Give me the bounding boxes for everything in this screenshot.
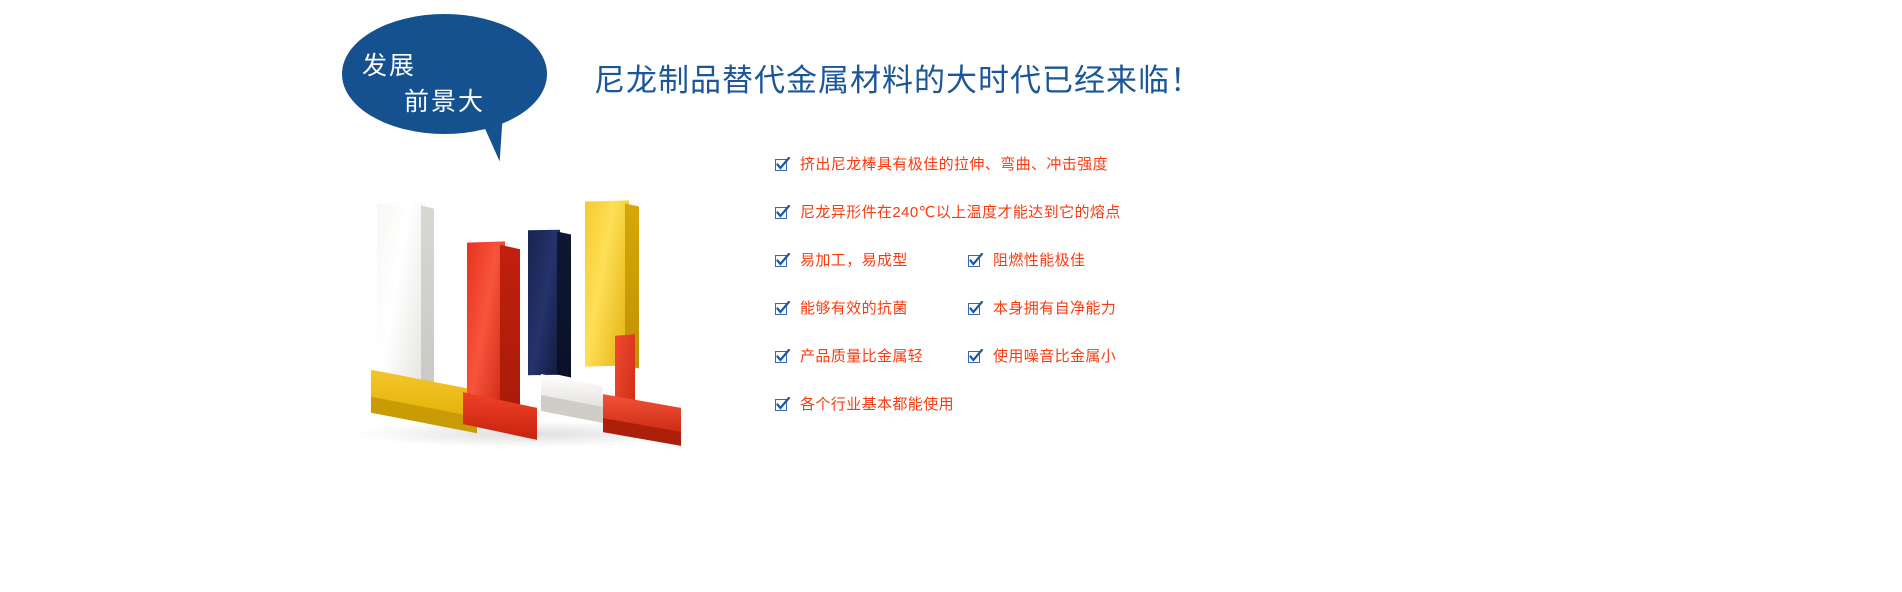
speech-bubble-line-2: 前景大 [404, 82, 485, 118]
checkbox-checked-icon [968, 349, 983, 364]
bullet-text: 挤出尼龙棒具有极佳的拉伸、弯曲、冲击强度 [800, 157, 1108, 172]
checkbox-checked-icon [775, 301, 790, 316]
bullet-row: 能够有效的抗菌 本身拥有自净能力 [775, 301, 1475, 349]
bullet-item: 挤出尼龙棒具有极佳的拉伸、弯曲、冲击强度 [775, 157, 1108, 172]
bullet-text: 各个行业基本都能使用 [800, 397, 954, 412]
bullet-item: 尼龙异形件在240℃以上温度才能达到它的熔点 [775, 205, 1121, 220]
bullet-item: 产品质量比金属轻 [775, 349, 923, 364]
bullet-item: 阻燃性能极佳 [968, 253, 1085, 268]
speech-bubble-line-1: 发展 [362, 46, 416, 82]
bullet-text: 阻燃性能极佳 [993, 253, 1085, 268]
checkbox-checked-icon [775, 205, 790, 220]
feature-bullet-list: 挤出尼龙棒具有极佳的拉伸、弯曲、冲击强度 尼龙异形件在240℃以上温度才能达到它… [775, 157, 1475, 445]
bullet-item: 本身拥有自净能力 [968, 301, 1116, 316]
bullet-row: 尼龙异形件在240℃以上温度才能达到它的熔点 [775, 205, 1475, 253]
bullet-row: 各个行业基本都能使用 [775, 397, 1475, 445]
bullet-item: 易加工，易成型 [775, 253, 908, 268]
checkbox-checked-icon [775, 397, 790, 412]
checkbox-checked-icon [775, 349, 790, 364]
bullet-text: 尼龙异形件在240℃以上温度才能达到它的熔点 [800, 205, 1121, 220]
bullet-row: 产品质量比金属轻 使用噪音比金属小 [775, 349, 1475, 397]
bullet-text: 产品质量比金属轻 [800, 349, 923, 364]
bullet-text: 能够有效的抗菌 [800, 301, 908, 316]
bullet-item: 各个行业基本都能使用 [775, 397, 954, 412]
bullet-text: 本身拥有自净能力 [993, 301, 1116, 316]
navy-bar-side [557, 232, 571, 378]
headline: 尼龙制品替代金属材料的大时代已经来临！ [594, 55, 1202, 100]
speech-bubble: 发展 前景大 [342, 14, 562, 164]
bullet-item: 使用噪音比金属小 [968, 349, 1116, 364]
bullet-item: 能够有效的抗菌 [775, 301, 908, 316]
white-bar-side [421, 205, 434, 404]
checkbox-checked-icon [968, 253, 983, 268]
bullet-row: 挤出尼龙棒具有极佳的拉伸、弯曲、冲击强度 [775, 157, 1475, 205]
bullet-text: 易加工，易成型 [800, 253, 908, 268]
checkbox-checked-icon [775, 253, 790, 268]
bullet-text: 使用噪音比金属小 [993, 349, 1116, 364]
promo-banner: 发展 前景大 尼龙制品替代金属材料的大时代已经来临！ [0, 0, 1902, 592]
nylon-profile-products-photo [345, 185, 725, 475]
navy-bar [528, 230, 560, 376]
bullet-row: 易加工，易成型 阻燃性能极佳 [775, 253, 1475, 301]
checkbox-checked-icon [775, 157, 790, 172]
red-u-channel-side [500, 245, 520, 426]
checkbox-checked-icon [968, 301, 983, 316]
